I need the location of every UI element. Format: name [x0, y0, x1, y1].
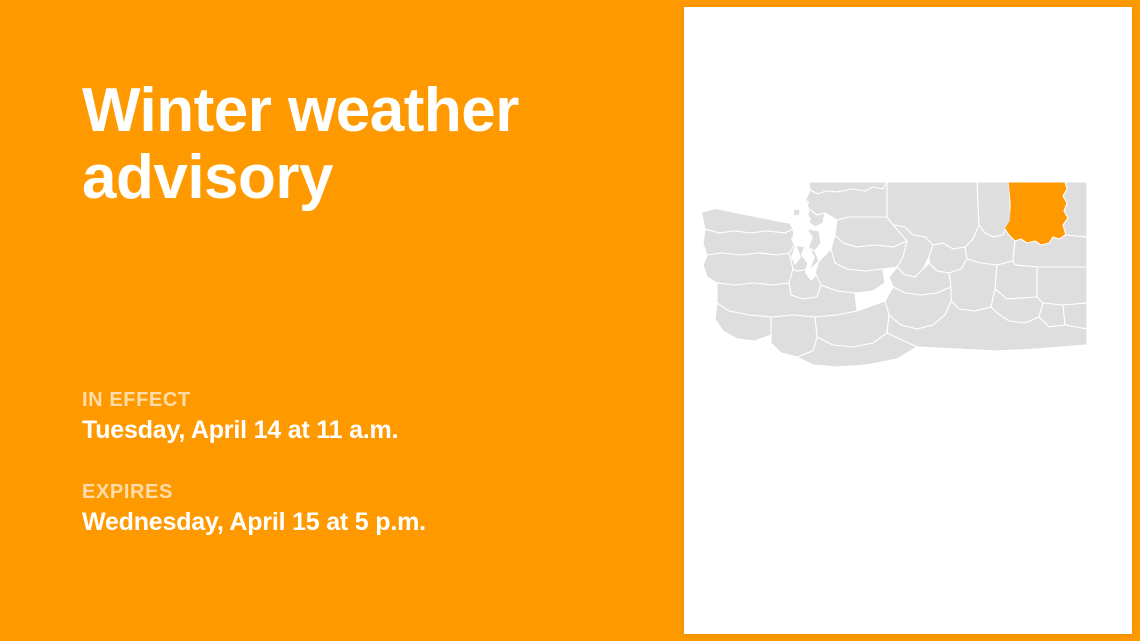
expires-value: Wednesday, April 15 at 5 p.m. [82, 507, 642, 537]
county-whitman [1037, 267, 1087, 305]
county-cowlitz [771, 315, 817, 357]
county-stevens-highlighted [1005, 182, 1068, 245]
in-effect-group: IN EFFECT Tuesday, April 14 at 11 a.m. [82, 389, 642, 445]
washington-county-map [697, 177, 1119, 377]
county-shapes [701, 182, 1087, 367]
in-effect-label: IN EFFECT [82, 389, 642, 412]
in-effect-value: Tuesday, April 14 at 11 a.m. [82, 415, 642, 445]
alert-info-panel: Winter weather advisory IN EFFECT Tuesda… [0, 0, 684, 641]
expires-group: EXPIRES Wednesday, April 15 at 5 p.m. [82, 481, 642, 537]
map-panel [684, 7, 1132, 634]
county-adams [995, 261, 1037, 299]
alert-times: IN EFFECT Tuesday, April 14 at 11 a.m. E… [82, 389, 642, 537]
weather-alert-graphic: Winter weather advisory IN EFFECT Tuesda… [0, 0, 1140, 641]
county-jefferson [703, 229, 795, 255]
county-pend-oreille [1063, 182, 1087, 237]
expires-label: EXPIRES [82, 481, 642, 504]
county-grays-harbor [703, 253, 793, 285]
alert-title: Winter weather advisory [82, 78, 642, 212]
